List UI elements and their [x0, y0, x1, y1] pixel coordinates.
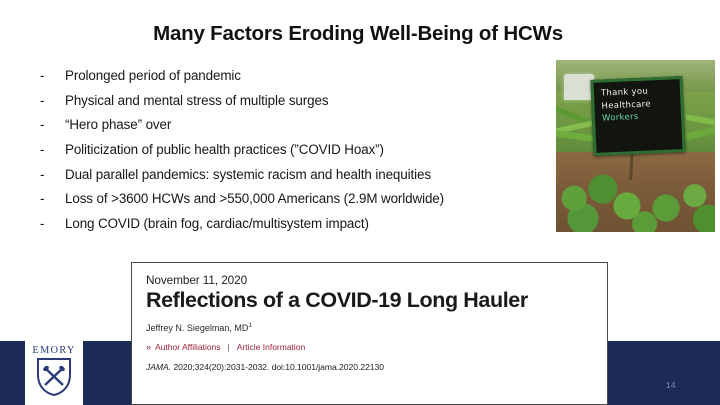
- list-item: - Politicization of public health practi…: [40, 142, 560, 167]
- list-item-label: Dual parallel pandemics: systemic racism…: [65, 167, 560, 182]
- thank-you-sign-photo: Thank you Healthcare Workers: [556, 60, 715, 232]
- citation-journal-name: JAMA.: [146, 362, 171, 372]
- article-links: » Author Affiliations | Article Informat…: [146, 342, 593, 352]
- sign-line-3: Workers: [602, 109, 680, 125]
- slide-canvas: Many Factors Eroding Well-Being of HCWs …: [0, 0, 720, 405]
- list-item-label: Politicization of public health practice…: [65, 142, 560, 157]
- article-citation: JAMA. 2020;324(20):2031-2032. doi:10.100…: [146, 362, 593, 372]
- page-title: Many Factors Eroding Well-Being of HCWs: [0, 22, 716, 46]
- photo-sign-board: Thank you Healthcare Workers: [590, 76, 685, 156]
- emory-wordmark: EMORY: [32, 345, 75, 356]
- list-item: - Long COVID (brain fog, cardiac/multisy…: [40, 216, 560, 241]
- article-author: Jeffrey N. Siegelman, MD1: [146, 322, 593, 333]
- list-item-label: Long COVID (brain fog, cardiac/multisyst…: [65, 216, 560, 231]
- list-item-label: “Hero phase” over: [65, 117, 560, 132]
- article-author-affiliation-marker: 1: [248, 322, 252, 329]
- emory-logo: EMORY: [25, 341, 83, 405]
- chevron-double-right-icon: »: [146, 342, 149, 352]
- bullet-dash-icon: -: [40, 191, 65, 206]
- article-card: November 11, 2020 Reflections of a COVID…: [131, 262, 608, 405]
- photo-sign-text: Thank you Healthcare Workers: [601, 84, 681, 125]
- list-item-label: Loss of >3600 HCWs and >550,000 American…: [65, 191, 560, 206]
- photo-foliage-right: [642, 180, 715, 232]
- page-number: 14: [666, 380, 675, 390]
- list-item: - “Hero phase” over: [40, 117, 560, 142]
- author-affiliations-link[interactable]: Author Affiliations: [155, 342, 221, 352]
- bullet-dash-icon: -: [40, 68, 65, 83]
- list-item: - Physical and mental stress of multiple…: [40, 93, 560, 118]
- link-separator: |: [228, 342, 230, 352]
- citation-details: 2020;324(20):2031-2032. doi:10.1001/jama…: [171, 362, 384, 372]
- bullet-dash-icon: -: [40, 117, 65, 132]
- list-item: - Dual parallel pandemics: systemic raci…: [40, 167, 560, 192]
- list-item-label: Physical and mental stress of multiple s…: [65, 93, 560, 108]
- list-item-label: Prolonged period of pandemic: [65, 68, 560, 83]
- article-information-link[interactable]: Article Information: [237, 342, 306, 352]
- bullet-dash-icon: -: [40, 93, 65, 108]
- list-item: - Prolonged period of pandemic: [40, 68, 560, 93]
- article-author-name: Jeffrey N. Siegelman, MD: [146, 323, 248, 333]
- article-date: November 11, 2020: [146, 273, 593, 287]
- list-item: - Loss of >3600 HCWs and >550,000 Americ…: [40, 191, 560, 216]
- article-title: Reflections of a COVID-19 Long Hauler: [146, 289, 593, 313]
- emory-shield-icon: [36, 357, 72, 397]
- bullet-list: - Prolonged period of pandemic - Physica…: [40, 68, 560, 241]
- bullet-dash-icon: -: [40, 167, 65, 182]
- bullet-dash-icon: -: [40, 216, 65, 231]
- bullet-dash-icon: -: [40, 142, 65, 157]
- photo-grass-right: [686, 80, 715, 190]
